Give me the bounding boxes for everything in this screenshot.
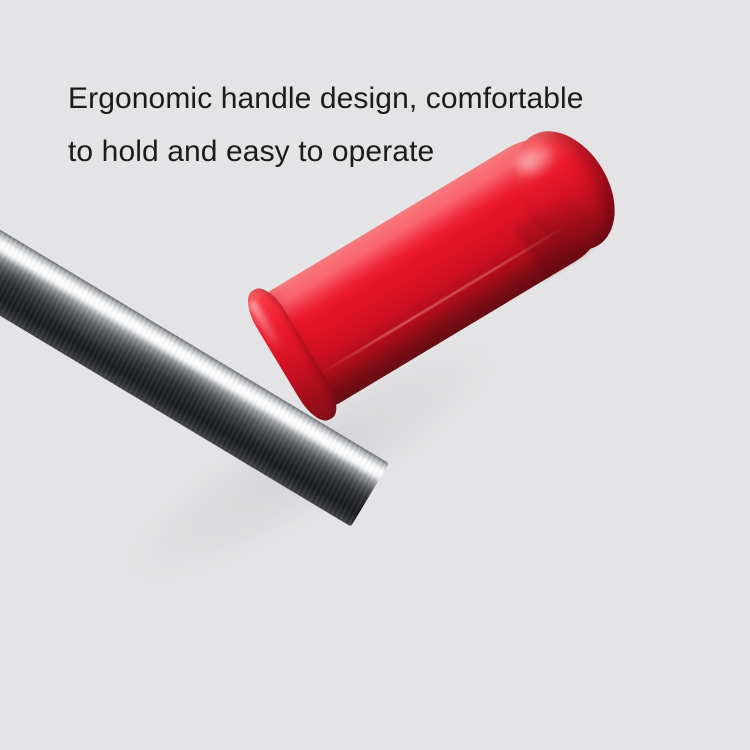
product-image-slide: Ergonomic handle design, comfortable to … — [0, 0, 750, 750]
caption-line-1: Ergonomic handle design, comfortable — [68, 82, 584, 115]
collar-highlight — [247, 299, 285, 353]
caption-line-2: to hold and easy to operate — [68, 135, 434, 168]
contact-shadow — [0, 109, 733, 750]
caption-text: Ergonomic handle design, comfortable to … — [68, 72, 708, 178]
